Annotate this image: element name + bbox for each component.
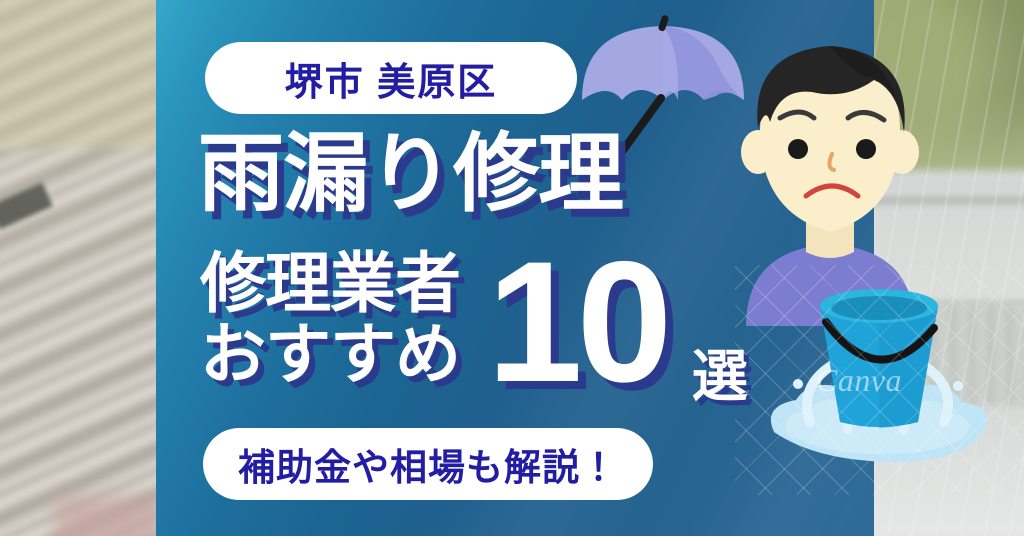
leaking-bucket-icon <box>748 282 1010 472</box>
subsidy-pill: 補助金や相場も解説！ <box>203 428 653 500</box>
subheadline-line-1: 修理業者 <box>200 252 460 315</box>
headline: 雨漏り修理 <box>198 131 623 217</box>
subheadline-group: 修理業者 おすすめ <box>200 252 460 385</box>
subheadline-line-2: おすすめ <box>200 323 460 386</box>
count-unit: 選 <box>692 349 748 405</box>
roof-photo-haze <box>0 0 156 536</box>
banner-root: Canva 堺市 美原区 雨漏り修理 修理業者 おすすめ 10 選 補助金や相場… <box>0 0 1024 536</box>
location-pill: 堺市 美原区 <box>205 42 577 114</box>
left-roof-photo <box>0 0 156 536</box>
count-number: 10 <box>487 236 666 408</box>
